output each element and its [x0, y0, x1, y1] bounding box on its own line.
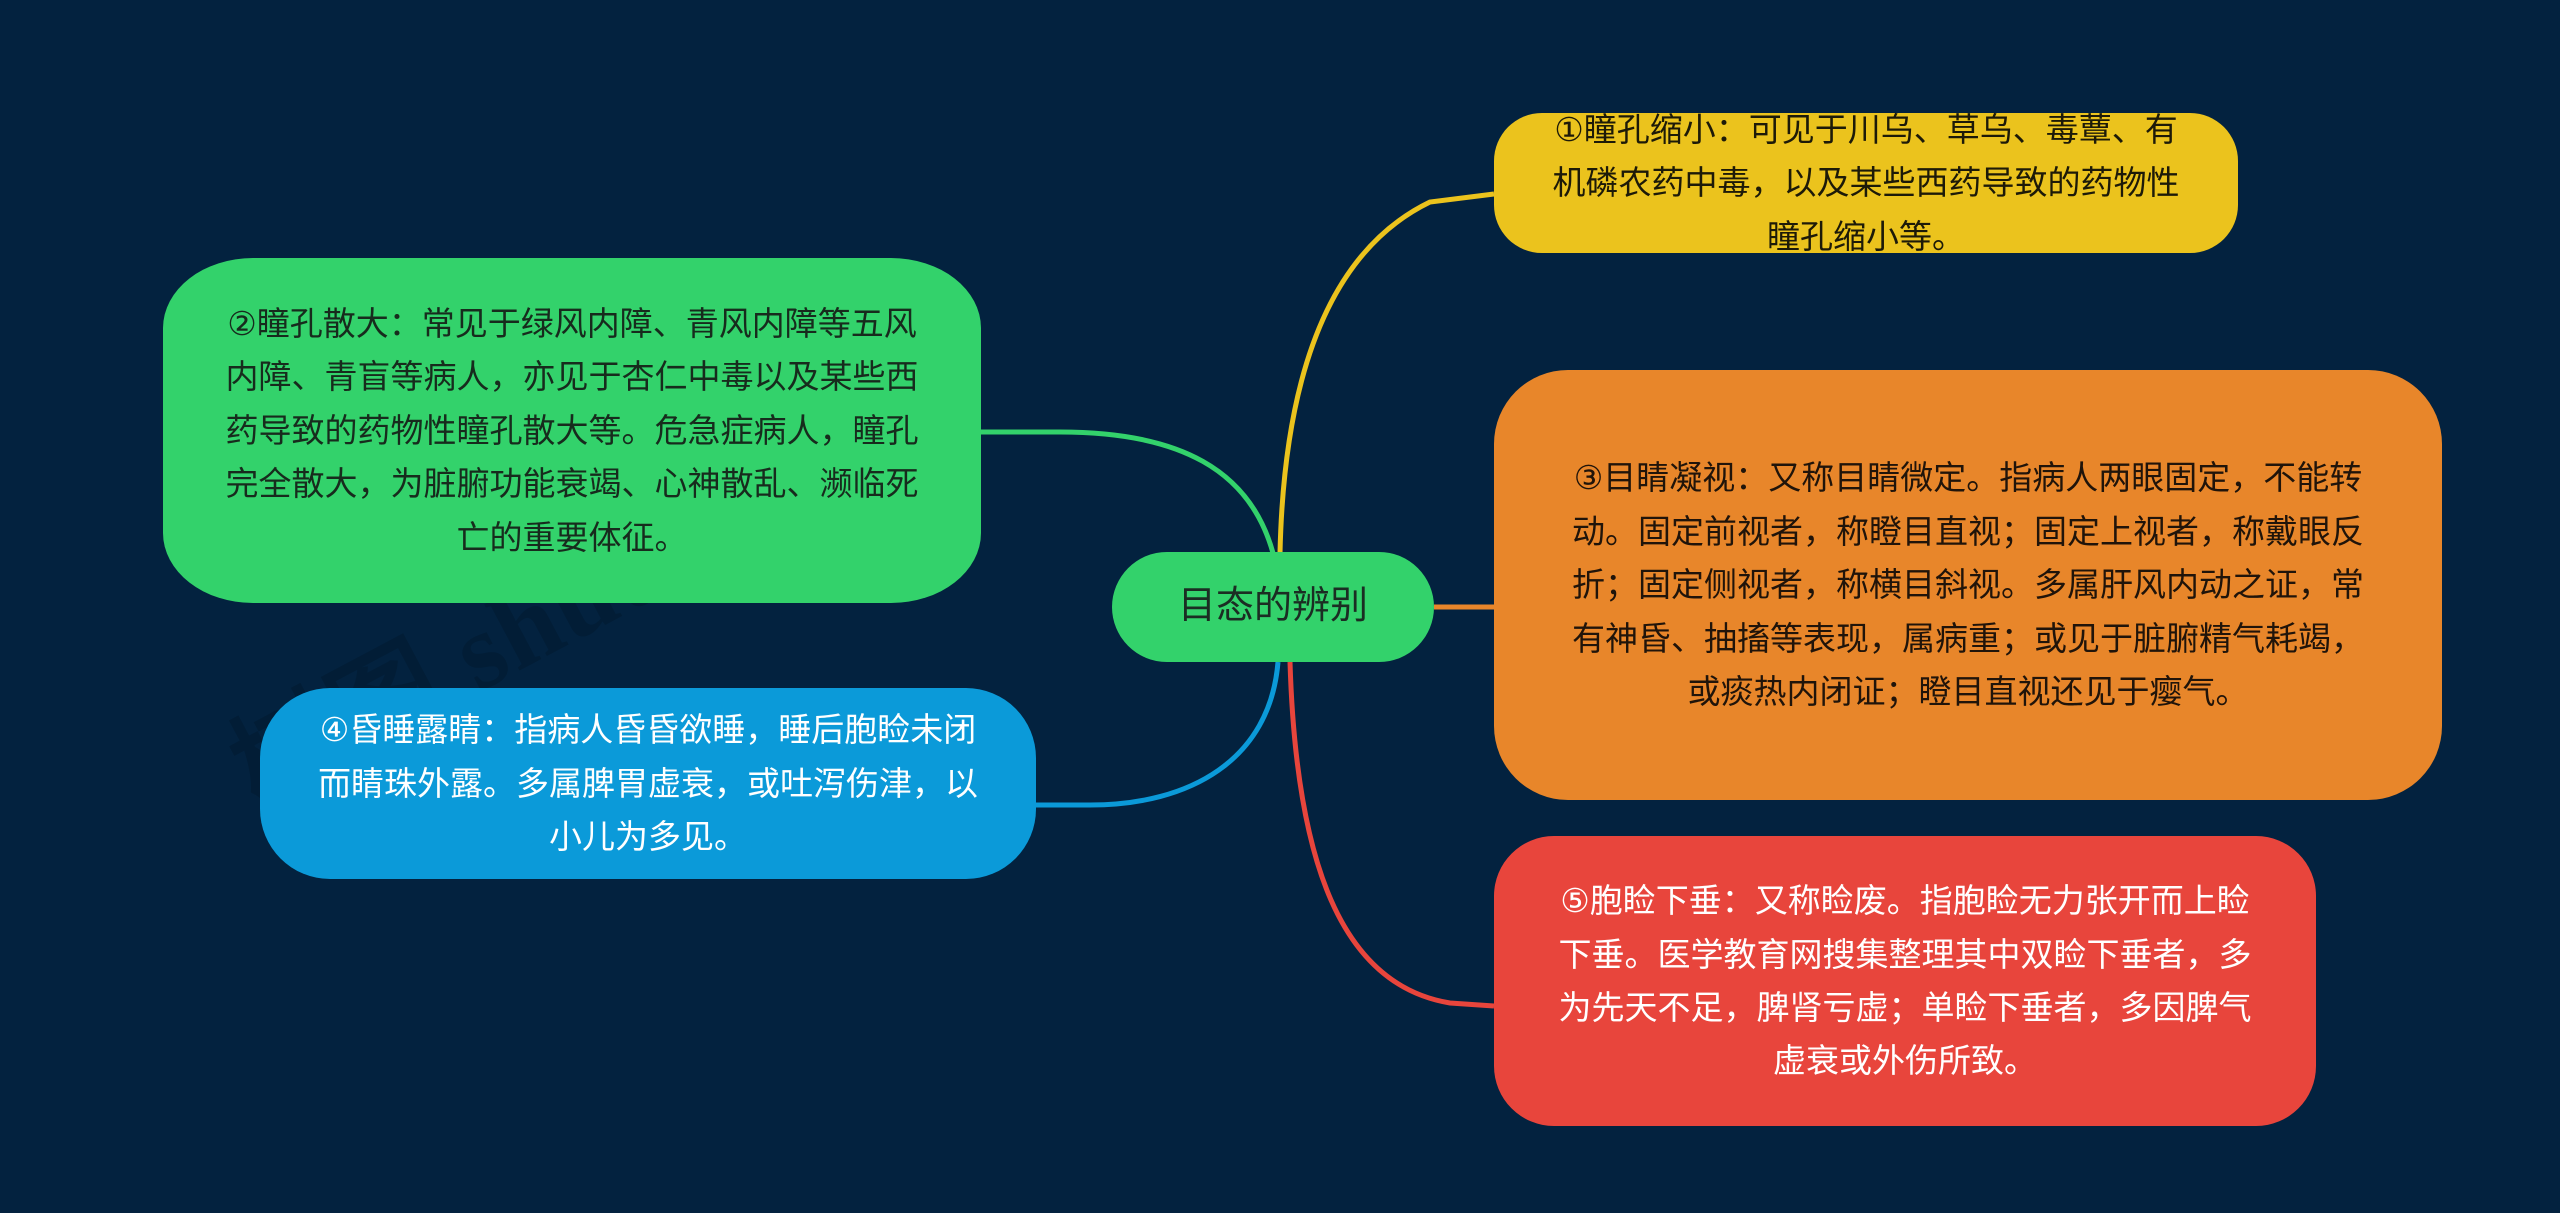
branch-node-pupil-dilation[interactable]: ②瞳孔散大：常见于绿风内障、青风内障等五风内障、青盲等病人，亦见于杏仁中毒以及某… [163, 258, 981, 603]
branch-node-sleep-exposed-eye-label: ④昏睡露睛：指病人昏昏欲睡，睡后胞睑未闭而睛珠外露。多属脾胃虚衰，或吐泻伤津，以… [314, 703, 982, 863]
root-node[interactable]: 目态的辨别 [1112, 552, 1434, 662]
connector-to-pupil-constriction [1280, 194, 1494, 553]
branch-node-sleep-exposed-eye[interactable]: ④昏睡露睛：指病人昏昏欲睡，睡后胞睑未闭而睛珠外露。多属脾胃虚衰，或吐泻伤津，以… [260, 688, 1036, 879]
connector-to-sleep-exposed-eye [1036, 662, 1278, 805]
mindmap-canvas: 树图 shutu.cn 树图 shutu.cn ②瞳孔散大：常见于绿风内障、青风… [0, 0, 2560, 1213]
branch-node-eyelid-ptosis-label: ⑤胞睑下垂：又称睑废。指胞睑无力张开而上睑下垂。医学教育网搜集整理其中双睑下垂者… [1550, 874, 2260, 1088]
branch-node-fixed-gaze[interactable]: ③目睛凝视：又称目睛微定。指病人两眼固定，不能转动。固定前视者，称瞪目直视；固定… [1494, 370, 2442, 800]
branch-node-pupil-dilation-label: ②瞳孔散大：常见于绿风内障、青风内障等五风内障、青盲等病人，亦见于杏仁中毒以及某… [215, 297, 929, 564]
branch-node-pupil-constriction[interactable]: ①瞳孔缩小：可见于川乌、草乌、毒蕈、有机磷农药中毒，以及某些西药导致的药物性瞳孔… [1494, 113, 2238, 253]
branch-node-fixed-gaze-label: ③目睛凝视：又称目睛微定。指病人两眼固定，不能转动。固定前视者，称瞪目直视；固定… [1566, 451, 2370, 718]
branch-node-pupil-constriction-label: ①瞳孔缩小：可见于川乌、草乌、毒蕈、有机磷农药中毒，以及某些西药导致的药物性瞳孔… [1538, 103, 2194, 263]
root-node-label: 目态的辨别 [1112, 576, 1434, 638]
branch-node-eyelid-ptosis[interactable]: ⑤胞睑下垂：又称睑废。指胞睑无力张开而上睑下垂。医学教育网搜集整理其中双睑下垂者… [1494, 836, 2316, 1126]
connector-to-pupil-dilation [981, 432, 1273, 553]
connector-to-eyelid-ptosis [1290, 662, 1494, 1006]
